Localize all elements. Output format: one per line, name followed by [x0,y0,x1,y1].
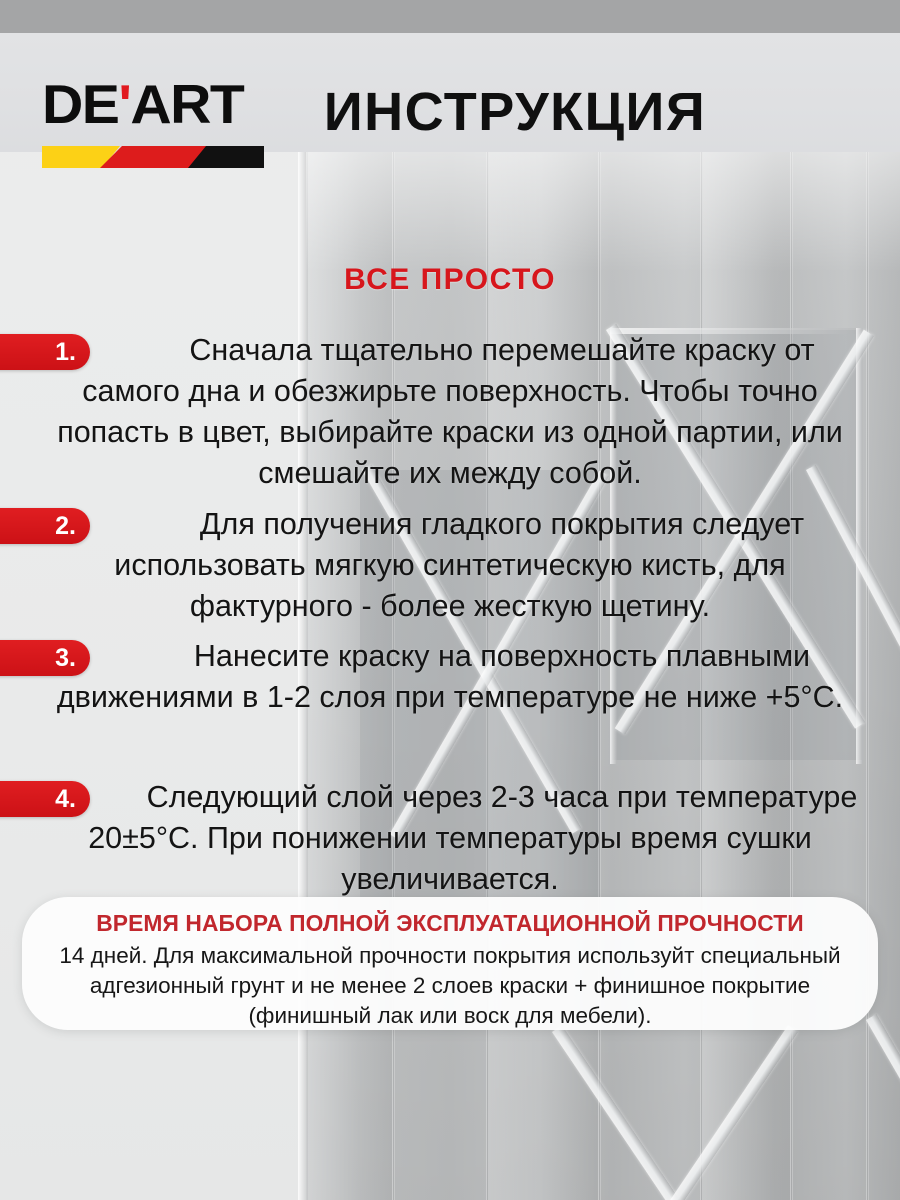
step-number-badge: 4. [0,781,90,817]
step-item: 2. Для получения гладкого покрытия следу… [0,504,900,627]
step-text-body: Нанесите краску на поверхность плавными … [57,639,843,714]
step-number-badge: 1. [0,334,90,370]
step-item: 4. Следующий слой через 2-3 часа при тем… [0,777,900,900]
step-text-body: Следующий слой через 2-3 часа при темпер… [88,780,857,896]
step-text: Нанесите краску на поверхность плавными … [0,636,900,718]
step-number-badge: 2. [0,508,90,544]
full-strength-note-card: ВРЕМЯ НАБОРА ПОЛНОЙ ЭКСПЛУАТАЦИОННОЙ ПРО… [22,897,878,1030]
header-band: DE'ART ИНСТРУКЦИЯ [0,33,900,152]
step-text-body: Сначала тщательно перемешайте краску от … [57,333,843,490]
page-title: ИНСТРУКЦИЯ [0,85,900,139]
step-item: 3. Нанесите краску на поверхность плавны… [0,636,900,718]
step-item: 1. Сначала тщательно перемешайте краску … [0,330,900,494]
note-title: ВРЕМЯ НАБОРА ПОЛНОЙ ЭКСПЛУАТАЦИОННОЙ ПРО… [54,911,846,937]
brand-logo-flag-bar [42,146,264,168]
instruction-page: DE'ART ИНСТРУКЦИЯ ВСЕ ПРОСТО 1. Сначала … [0,0,900,1200]
step-text-body: Для получения гладкого покрытия следует … [114,507,804,623]
step-text: Сначала тщательно перемешайте краску от … [0,330,900,494]
section-heading: ВСЕ ПРОСТО [0,263,900,297]
note-body: 14 дней. Для максимальной прочности покр… [42,941,858,1031]
top-strip [0,0,900,33]
step-text: Для получения гладкого покрытия следует … [0,504,900,627]
step-number-badge: 3. [0,640,90,676]
step-text: Следующий слой через 2-3 часа при темпер… [0,777,900,900]
photo-highlight [306,152,900,272]
